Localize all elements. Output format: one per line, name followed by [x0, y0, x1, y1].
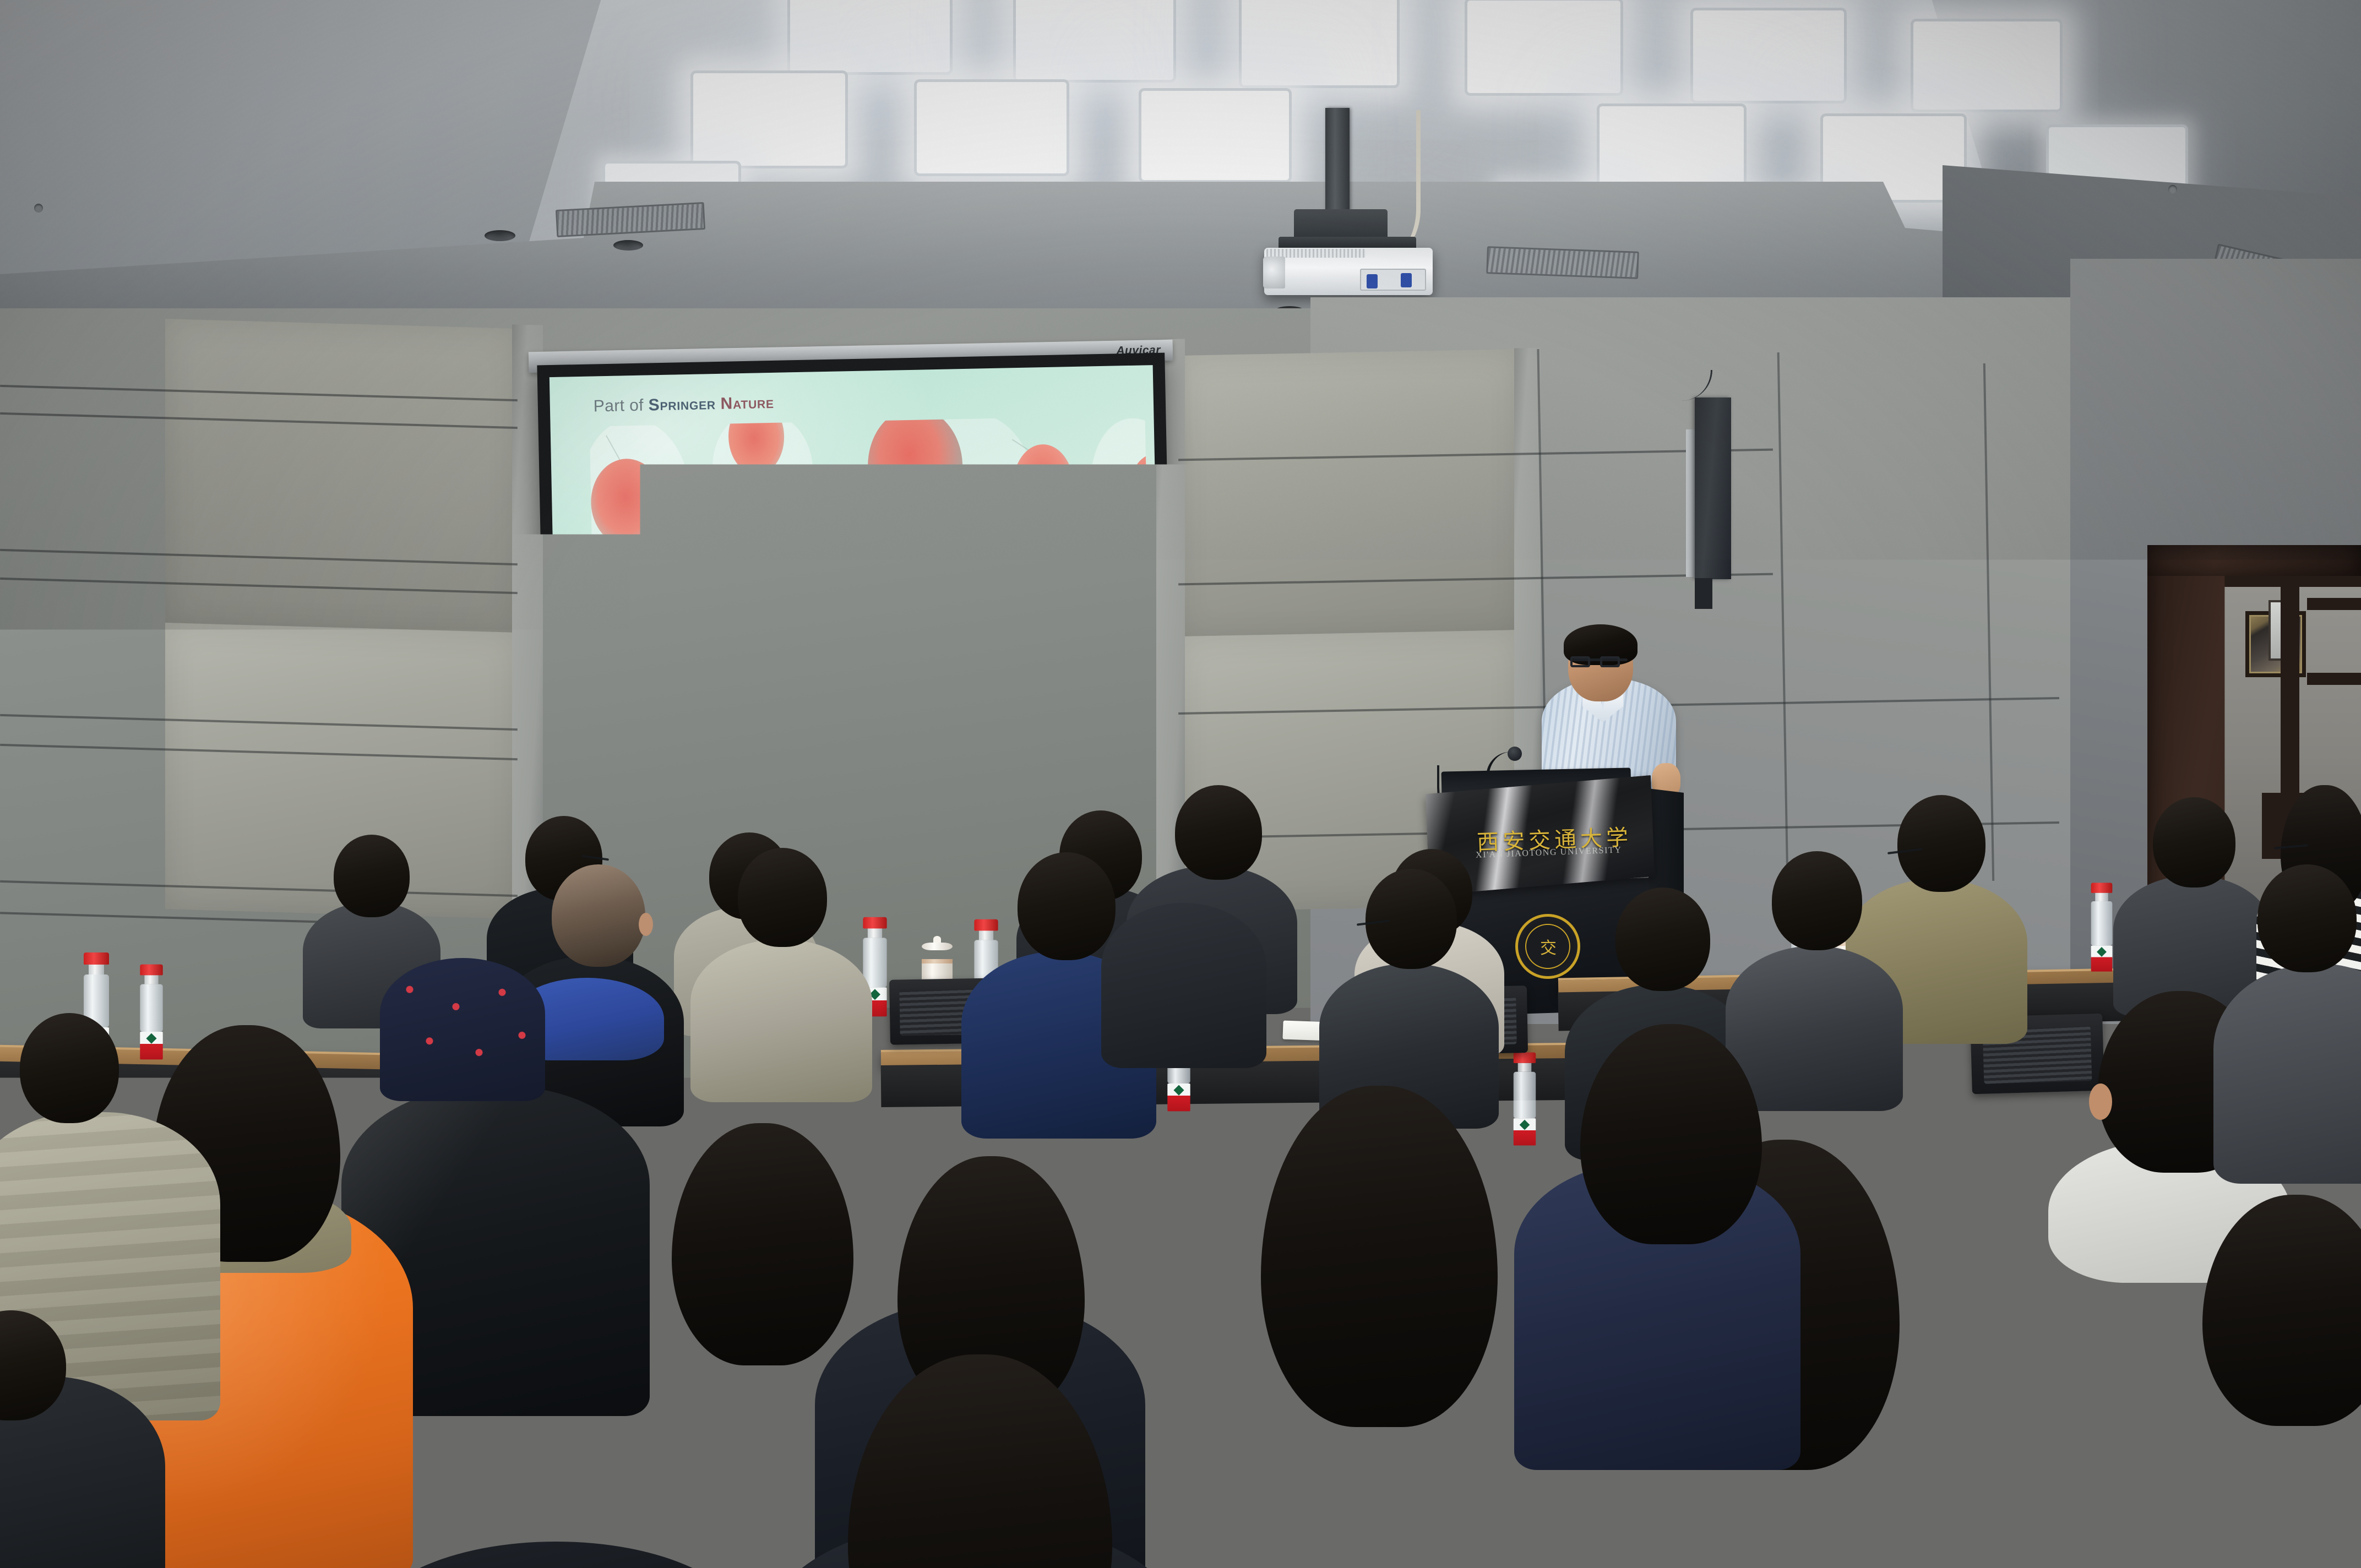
bottle-cap: [974, 919, 998, 931]
bottle-body: [140, 984, 162, 1032]
bottle-cap: [1514, 1053, 1536, 1063]
nongfu-leaf-icon: [2097, 947, 2107, 957]
springer-prefix: Part of: [593, 396, 644, 416]
ceiling-light-panel: [1690, 8, 1847, 104]
nongfu-leaf-icon: [146, 1033, 156, 1044]
person-head: [1366, 869, 1457, 969]
person-hair: [672, 1123, 853, 1365]
ceiling-light-panel: [690, 70, 848, 168]
springer-wordmark: Springer: [648, 395, 716, 414]
person-ear: [2089, 1084, 2112, 1120]
bottle-neck: [1518, 1063, 1532, 1072]
bottle-neck: [2095, 893, 2108, 901]
water-bottle: [140, 965, 162, 1060]
springer-nature-lockup: Part of Springer Nature: [593, 394, 774, 416]
person-head: [1175, 785, 1262, 880]
slide-title: Publishing in Nature Journals: [613, 585, 943, 622]
person-head: [2257, 864, 2357, 972]
bottle-body: [2091, 901, 2113, 946]
logo-word-nature: nature: [933, 764, 1027, 803]
person-torso: [1726, 946, 1903, 1111]
teacup-band: [922, 959, 953, 963]
door-mullion: [2307, 598, 2361, 610]
recessed-spotlight: [613, 240, 643, 251]
water-bottle: [2091, 883, 2113, 971]
person-ear: [639, 913, 653, 936]
projection-screen: Part of Springer Nature: [537, 353, 1174, 845]
vga-connector-icon: [1367, 274, 1378, 288]
water-bottle: [1514, 1053, 1536, 1146]
speaker-bracket: [1695, 578, 1712, 609]
sprinkler-head: [2168, 185, 2177, 194]
person-head: [1018, 852, 1116, 960]
doorway-header: [2147, 545, 2361, 576]
logo-word-research: research: [1026, 762, 1136, 802]
person-head: [1615, 888, 1710, 991]
bottle-neck: [979, 930, 993, 940]
person-torso: [380, 958, 545, 1101]
bottle-cap: [140, 965, 162, 976]
presenter-name: Wei Fan: [614, 641, 684, 665]
door-mullion: [2307, 673, 2361, 685]
event-date-venue: 19.12.2016 @ FIST-Xi'an Jiaotong Univers…: [616, 731, 890, 752]
bottle-neck: [144, 975, 158, 984]
university-seal-glyph: 交: [1525, 924, 1570, 969]
slide-title-italic: Nature: [764, 588, 840, 618]
person-torso: [1101, 903, 1266, 1068]
person-head: [2153, 797, 2235, 888]
nongfu-leaf-icon: [1173, 1085, 1184, 1096]
person-head: [20, 1013, 119, 1123]
nature-research-logo: natureresearch: [933, 761, 1136, 804]
bottle-body: [1514, 1072, 1536, 1118]
slide-artwork: [590, 415, 1148, 576]
vga-connector-icon: [1401, 273, 1412, 287]
ceiling-light-panel: [1239, 0, 1400, 88]
slide-title-part1: Publishing in: [613, 590, 764, 621]
bottle-label: [2091, 946, 2113, 972]
person-head: [334, 835, 410, 917]
presentation-slide: Part of Springer Nature: [550, 365, 1162, 832]
person-head: [738, 848, 827, 947]
projector-mount-pole: [1325, 108, 1350, 218]
bottle-cap: [2091, 883, 2113, 892]
person-torso: [2213, 963, 2361, 1184]
speaker-side-edge: [1686, 429, 1695, 577]
nongfu-leaf-icon: [1520, 1120, 1530, 1130]
projector-lens: [1263, 257, 1285, 288]
wall-panel: [1178, 349, 1520, 642]
ceiling-light-panel: [914, 79, 1069, 176]
person-hair: [1261, 1086, 1498, 1427]
microphone-capsule: [1508, 747, 1522, 761]
wall-panel: [165, 319, 518, 637]
ceiling-light-panel: [1911, 19, 2063, 112]
ceiling-light-panel: [1013, 0, 1176, 83]
projector-port-panel: [1360, 269, 1426, 291]
person-head: [1772, 851, 1862, 950]
ceiling-light-panel: [787, 0, 953, 75]
bottle-neck: [89, 965, 104, 974]
bottle-body: [863, 938, 886, 987]
cell-shape: [867, 415, 964, 526]
bottle-neck: [868, 928, 882, 938]
bottle-cap: [863, 917, 886, 929]
teacup-lid: [922, 943, 953, 950]
teacup-knob: [933, 936, 941, 943]
wall-mounted-speaker: [1695, 398, 1731, 579]
sprinkler-head: [34, 204, 43, 213]
bottle-cap: [84, 952, 109, 965]
person-torso: [690, 939, 872, 1102]
bottle-label: [1167, 1084, 1190, 1111]
eyeglasses-lens-left-icon: [1570, 656, 1590, 667]
presenter-role: Associate Editor: [614, 672, 750, 696]
nature-wordmark: Nature: [720, 394, 774, 413]
bottle-label: [140, 1032, 162, 1059]
ceiling-light-panel: [1465, 0, 1623, 96]
person-head: [552, 864, 645, 967]
bottle-label: [1514, 1118, 1536, 1145]
photograph-seminar-room: Auvicar Part of Springer Nature: [0, 0, 2361, 1568]
ceiling-light-panel: [1139, 88, 1292, 183]
presenter-journal: Nature Communications: [615, 702, 816, 727]
air-vent: [1486, 246, 1639, 279]
person-head: [1897, 795, 1985, 892]
slide-title-part2: Journals: [840, 586, 943, 617]
ceiling-light-panel: [1597, 104, 1747, 195]
recessed-spotlight: [485, 230, 515, 241]
eyeglasses-lens-right-icon: [1600, 656, 1620, 667]
